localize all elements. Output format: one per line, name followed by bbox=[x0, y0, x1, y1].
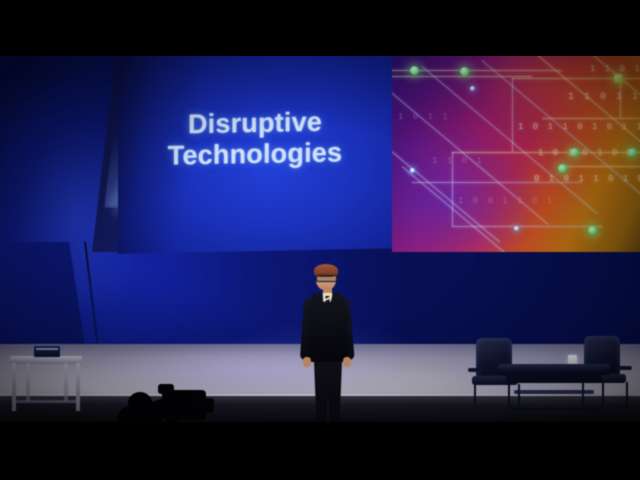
low-table-legs bbox=[508, 382, 604, 410]
slide-title-line-2: Technologies bbox=[130, 137, 380, 173]
camera-viewfinder-icon bbox=[158, 384, 174, 394]
binary-string: 1 1 0 1 1 bbox=[568, 92, 640, 103]
low-table-shelf bbox=[514, 390, 594, 394]
table-device bbox=[34, 346, 60, 357]
circuit-node bbox=[410, 168, 415, 173]
circuit-node bbox=[614, 74, 623, 83]
circuit-node bbox=[410, 66, 419, 75]
chair-armrest bbox=[468, 368, 482, 372]
interview-seating-group bbox=[470, 286, 635, 416]
stage-photograph: 1 1 0 1 1 1 1 0 1 1 1 0 1 1 0 1 0 1 1 1 … bbox=[0, 56, 640, 422]
speaker-hand-left bbox=[303, 357, 311, 367]
side-table-leg bbox=[12, 363, 16, 411]
binary-string: 1 0 1 1 bbox=[398, 112, 450, 122]
speaker-hand-right bbox=[343, 357, 351, 367]
speaker-suit-jacket bbox=[304, 292, 350, 362]
video-still-frame: 1 1 0 1 1 1 1 0 1 1 1 0 1 1 0 1 0 1 1 1 … bbox=[0, 0, 640, 480]
side-table-leg bbox=[64, 363, 68, 401]
keynote-speaker bbox=[296, 264, 358, 422]
letterbox-bar-bottom bbox=[0, 422, 640, 480]
speaker-trousers bbox=[312, 359, 344, 422]
projection-screen-circuit-panel: 1 1 0 1 1 1 1 0 1 1 1 0 1 1 0 1 0 1 1 1 … bbox=[392, 56, 640, 252]
glasses-icon bbox=[316, 275, 339, 282]
letterbox-bar-top bbox=[0, 0, 640, 56]
binary-string: 1 0 1 1 0 1 0 1 1 bbox=[518, 122, 640, 132]
side-table-top bbox=[10, 356, 82, 364]
circuit-node bbox=[470, 86, 475, 91]
interview-low-table bbox=[498, 364, 610, 410]
side-table-leg bbox=[26, 363, 30, 401]
camera-lens-icon bbox=[196, 398, 214, 413]
circuit-node bbox=[514, 226, 519, 231]
circuit-node bbox=[588, 226, 597, 235]
circuit-trace bbox=[542, 118, 640, 119]
camera-operator-silhouette bbox=[112, 386, 222, 422]
chair-armrest bbox=[618, 366, 632, 370]
binary-string: 0 1 0 1 1 0 1 0 bbox=[534, 174, 640, 184]
side-table-leg bbox=[76, 363, 80, 411]
binary-string: 1 1 0 1 bbox=[432, 156, 484, 166]
binary-string: 1 0 1 0 1 0 0 1 1 bbox=[538, 148, 640, 158]
slide-title: Disruptive Technologies bbox=[130, 106, 380, 173]
table-device-glint bbox=[36, 348, 58, 350]
operator-body bbox=[118, 406, 162, 422]
side-table-rail bbox=[12, 400, 80, 403]
circuit-trace-vertical bbox=[512, 78, 513, 152]
binary-string: 1 1 0 1 1 bbox=[590, 64, 640, 74]
side-table bbox=[10, 356, 82, 412]
circuit-trace bbox=[562, 166, 640, 167]
slide-title-line-1: Disruptive bbox=[130, 106, 380, 142]
circuit-node bbox=[558, 164, 567, 173]
circuit-trace bbox=[392, 76, 532, 77]
circuit-node bbox=[460, 67, 469, 76]
binary-string: 1 0 0 1 1 0 1 bbox=[458, 196, 554, 206]
